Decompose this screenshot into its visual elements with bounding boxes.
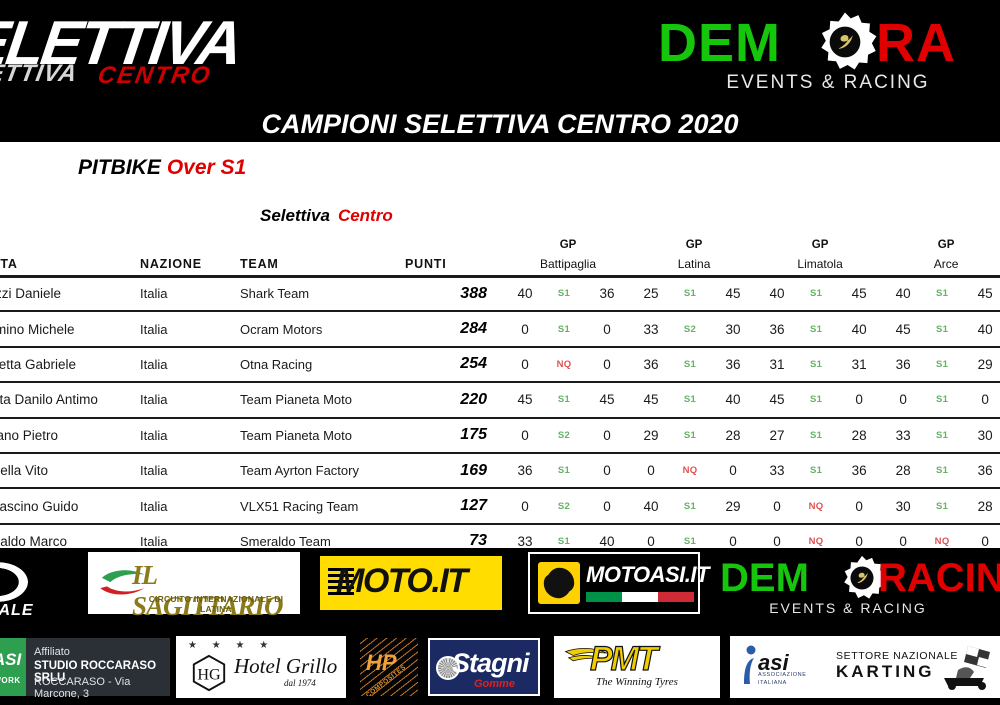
cell-punti: 254 [405, 347, 505, 382]
cell-gp3-race2: 0 [961, 382, 1000, 417]
demora-logo-dem: DEM [658, 12, 781, 74]
cell-team: Ocram Motors [240, 311, 405, 346]
cell-gp3-code: S1 [923, 453, 961, 488]
cell-gp0-code: S1 [545, 311, 583, 346]
standings-poster: SELETTIVA SELETTIVA CENTRO DEM RA EVENTS… [0, 0, 1000, 705]
table-row: Bendascino GuidoItaliaVLX51 Racing Team1… [0, 488, 1000, 523]
cell-gp1-race1: 0 [631, 453, 671, 488]
roccaraso-line3: ROCCARASO - Via Marcone, 3 [34, 676, 170, 700]
cell-gp3-race1: 33 [883, 418, 923, 453]
cell-gp2-code: S1 [797, 418, 835, 453]
cell-team: Team Pianeta Moto [240, 418, 405, 453]
asi-work-logo: ASI [0, 650, 24, 670]
gp-word-1: GP [631, 236, 757, 254]
cell-gp3-race2: 45 [961, 276, 1000, 311]
cell-team: Otna Racing [240, 347, 405, 382]
cell-gp0-race1: 0 [505, 311, 545, 346]
cell-gp1-race1: 45 [631, 382, 671, 417]
cell-gp1-race2: 36 [709, 347, 757, 382]
cell-gp0-race1: 0 [505, 347, 545, 382]
cell-gp2-race1: 33 [757, 453, 797, 488]
sponsor-motoasi-it[interactable]: MOTOASI.IT [528, 552, 700, 614]
cell-gp3-race1: 40 [883, 276, 923, 311]
pmt-name: PMT [590, 640, 656, 679]
cell-pilota: Romano Pietro [0, 418, 140, 453]
gp-city-1: Latina [631, 254, 757, 276]
sponsor-ohvale[interactable]: OHVALE [0, 560, 76, 618]
cell-gp0-code: S1 [545, 453, 583, 488]
cell-gp0-race1: 0 [505, 418, 545, 453]
cell-gp3-race1: 0 [883, 382, 923, 417]
cell-punti: 175 [405, 418, 505, 453]
column-header-row: PILOTA NAZIONE TEAM PUNTI Battipaglia La… [0, 254, 1000, 276]
asi-work-word: WORK [0, 676, 26, 685]
cell-gp2-race2: 31 [835, 347, 883, 382]
cell-gp2-race2: 0 [835, 382, 883, 417]
cell-gp0-race2: 0 [583, 311, 631, 346]
cell-gp2-race2: 28 [835, 418, 883, 453]
selettiva-logo-centro: CENTRO [96, 62, 214, 90]
category-main: PITBIKE [78, 156, 161, 179]
moto-it-label: MOTO.IT [336, 562, 502, 601]
cell-gp0-race2: 0 [583, 488, 631, 523]
gp-word-row: GP GP GP GP [0, 236, 1000, 254]
cell-gp1-race1: 36 [631, 347, 671, 382]
cell-gp1-race2: 0 [709, 453, 757, 488]
header-nazione: NAZIONE [140, 254, 240, 276]
cell-pilota: Paneta Danilo Antimo [0, 382, 140, 417]
table-row: Peluzzi DanieleItaliaShark Team38840S136… [0, 276, 1000, 311]
gear-icon [813, 10, 877, 74]
cell-nazione: Italia [140, 382, 240, 417]
cell-gp2-code: S1 [797, 453, 835, 488]
cell-gp3-race1: 28 [883, 453, 923, 488]
top-banner: SELETTIVA SELETTIVA CENTRO DEM RA EVENTS… [0, 0, 1000, 106]
cell-gp1-race2: 45 [709, 276, 757, 311]
series-heading: SelettivaCentro [260, 206, 393, 226]
cell-gp3-race2: 30 [961, 418, 1000, 453]
cell-gp2-race1: 45 [757, 382, 797, 417]
cell-gp0-code: S1 [545, 382, 583, 417]
cell-nazione: Italia [140, 311, 240, 346]
cell-gp1-code: S1 [671, 276, 709, 311]
gp-word-3: GP [883, 236, 1000, 254]
category-accent: Over S1 [167, 156, 246, 179]
cell-nazione: Italia [140, 453, 240, 488]
demora-tagline: EVENTS & RACING [648, 72, 1000, 94]
cell-pilota: Peluzzi Daniele [0, 276, 140, 311]
cell-gp0-race1: 40 [505, 276, 545, 311]
series-accent: Centro [338, 206, 393, 225]
gp-word-2: GP [757, 236, 883, 254]
sponsor-demoracing[interactable]: DEM RACING EVENTS & RACING [716, 554, 1000, 624]
demoracing-dem: DEM [720, 556, 809, 601]
hotel-grillo-since: dal 1974 [284, 678, 316, 688]
header-pilota: PILOTA [0, 254, 140, 276]
cell-gp0-code: NQ [545, 347, 583, 382]
sponsor-asi-karting[interactable]: asi ASSOCIAZIONE ITALIANA SETTORE NAZION… [730, 636, 1000, 698]
cell-gp2-race1: 36 [757, 311, 797, 346]
table-row: Romano PietroItaliaTeam Pianeta Moto1750… [0, 418, 1000, 453]
cell-gp2-race1: 40 [757, 276, 797, 311]
cell-gp1-code: S1 [671, 347, 709, 382]
motoasi-label: MOTOASI.IT [586, 562, 709, 588]
cell-gp3-race2: 28 [961, 488, 1000, 523]
cell-gp0-race2: 0 [583, 453, 631, 488]
selettiva-logo-sub: SELETTIVA [0, 60, 80, 88]
cell-gp1-code: S1 [671, 382, 709, 417]
pmt-slogan: The Winning Tyres [554, 676, 720, 688]
roccaraso-line1: Affiliato [34, 646, 70, 658]
cell-gp3-code: S1 [923, 311, 961, 346]
cell-gp2-code: S1 [797, 276, 835, 311]
cell-gp2-code: S1 [797, 382, 835, 417]
karting-line2: KARTING [836, 662, 934, 682]
table-head: GP GP GP GP PILOTA NAZIONE TEAM PUNTI Ba… [0, 236, 1000, 276]
series-main: Selettiva [260, 206, 330, 225]
cell-gp2-race1: 31 [757, 347, 797, 382]
cell-gp2-race2: 0 [835, 488, 883, 523]
hotel-grillo-name: Hotel Grillo [234, 654, 337, 679]
cell-punti: 220 [405, 382, 505, 417]
cell-gp1-race2: 30 [709, 311, 757, 346]
page-title: CAMPIONI SELETTIVA CENTRO 2020 [261, 109, 738, 140]
cell-punti: 388 [405, 276, 505, 311]
poster-title-bar: CAMPIONI SELETTIVA CENTRO 2020 [0, 106, 1000, 142]
table-row: Zappetta GabrieleItaliaOtna Racing2540NQ… [0, 347, 1000, 382]
table-row: Mazzella VitoItaliaTeam Ayrton Factory16… [0, 453, 1000, 488]
hotel-grillo-hexagon-icon: HG [190, 654, 228, 692]
gp-city-2: Limatola [757, 254, 883, 276]
cell-pilota: Zappetta Gabriele [0, 347, 140, 382]
stagni-name: Stagni [452, 648, 529, 679]
cell-gp2-race2: 45 [835, 276, 883, 311]
cell-gp0-race2: 36 [583, 276, 631, 311]
asi-figure-icon [740, 644, 760, 688]
cell-gp1-race1: 29 [631, 418, 671, 453]
hotel-stars-icon: ★ ★ ★ ★ [188, 640, 274, 651]
cell-nazione: Italia [140, 418, 240, 453]
header-punti: PUNTI [405, 254, 505, 276]
cell-gp2-code: S1 [797, 311, 835, 346]
table-row: Palomino MicheleItaliaOcram Motors2840S1… [0, 311, 1000, 346]
cell-gp0-race2: 0 [583, 347, 631, 382]
category-heading: PITBIKEOver S1 [78, 156, 246, 180]
table-body: Peluzzi DanieleItaliaShark Team38840S136… [0, 276, 1000, 559]
cell-gp1-race2: 40 [709, 382, 757, 417]
sponsor-studio-roccaraso[interactable]: ASI WORK Affiliato STUDIO ROCCARASO SRLU… [0, 638, 170, 696]
cell-gp0-code: S2 [545, 418, 583, 453]
cell-gp2-race1: 0 [757, 488, 797, 523]
cell-gp3-race2: 40 [961, 311, 1000, 346]
cell-pilota: Mazzella Vito [0, 453, 140, 488]
demoracing-racing: RACING [878, 556, 1000, 601]
cell-gp3-race2: 29 [961, 347, 1000, 382]
demoracing-tagline: EVENTS & RACING [716, 600, 980, 616]
stagni-subtitle: Gomme [474, 678, 515, 690]
cell-gp3-code: S1 [923, 276, 961, 311]
svg-text:HG: HG [197, 667, 221, 684]
italian-flag-icon [586, 592, 694, 602]
cell-team: Team Pianeta Moto [240, 382, 405, 417]
cell-gp2-race1: 27 [757, 418, 797, 453]
sponsor-hotel-grillo[interactable]: ★ ★ ★ ★ HG Hotel Grillo dal 1974 [176, 636, 346, 698]
cell-punti: 284 [405, 311, 505, 346]
table-row: Paneta Danilo AntimoItaliaTeam Pianeta M… [0, 382, 1000, 417]
motoasi-swirl-icon [540, 564, 578, 602]
sponsor-bar-primary: OHVALE IL SAGITTARIO CIRCUITO INTERNAZIO… [0, 548, 1000, 630]
cell-gp3-race1: 45 [883, 311, 923, 346]
standings-table: GP GP GP GP PILOTA NAZIONE TEAM PUNTI Ba… [0, 236, 1000, 560]
ohvale-label: OHVALE [0, 602, 33, 620]
demora-logo: DEM RA EVENTS & RACING [648, 8, 1000, 104]
cell-gp1-race1: 33 [631, 311, 671, 346]
cell-gp3-code: S1 [923, 347, 961, 382]
cell-gp1-race2: 29 [709, 488, 757, 523]
cell-gp1-race2: 28 [709, 418, 757, 453]
cell-team: Shark Team [240, 276, 405, 311]
cell-team: Team Ayrton Factory [240, 453, 405, 488]
gp-city-3: Arce [883, 254, 1000, 276]
cell-gp3-race1: 30 [883, 488, 923, 523]
asi-assoc-line1: ASSOCIAZIONE [758, 672, 806, 678]
cell-gp2-code: S1 [797, 347, 835, 382]
cell-gp3-code: S1 [923, 382, 961, 417]
cell-gp0-race1: 36 [505, 453, 545, 488]
standings-sheet: PITBIKEOver S1 SelettivaCentro GP GP GP … [0, 142, 1000, 548]
cell-gp3-race2: 36 [961, 453, 1000, 488]
cell-gp1-race1: 25 [631, 276, 671, 311]
ohvale-ring-icon [0, 562, 28, 602]
asi-assoc-line2: ITALIANA [758, 680, 787, 686]
cell-gp2-race2: 40 [835, 311, 883, 346]
cell-gp0-race1: 0 [505, 488, 545, 523]
gp-city-0: Battipaglia [505, 254, 631, 276]
sagittario-subtitle: CIRCUITO INTERNAZIONALE DI LATINA [134, 594, 298, 614]
sponsor-hp-composites[interactable]: HP COMPOSITES [360, 638, 418, 696]
cell-punti: 169 [405, 453, 505, 488]
selettiva-centro-logo: SELETTIVA SELETTIVA CENTRO [0, 4, 330, 94]
cell-pilota: Bendascino Guido [0, 488, 140, 523]
cell-gp3-code: S1 [923, 488, 961, 523]
cell-nazione: Italia [140, 347, 240, 382]
cell-gp2-race2: 36 [835, 453, 883, 488]
cell-nazione: Italia [140, 488, 240, 523]
cell-gp2-code: NQ [797, 488, 835, 523]
sponsor-stagni-gomme[interactable]: Stagni Gomme [428, 638, 540, 696]
cell-gp3-code: S1 [923, 418, 961, 453]
cell-gp3-race1: 36 [883, 347, 923, 382]
cell-gp0-race1: 45 [505, 382, 545, 417]
cell-gp1-code: S2 [671, 311, 709, 346]
gp-word-0: GP [505, 236, 631, 254]
cell-gp0-code: S1 [545, 276, 583, 311]
sponsor-il-sagittario[interactable]: IL SAGITTARIO CIRCUITO INTERNAZIONALE DI… [88, 552, 300, 614]
cell-team: VLX51 Racing Team [240, 488, 405, 523]
cell-pilota: Palomino Michele [0, 311, 140, 346]
cell-gp1-race1: 40 [631, 488, 671, 523]
cell-gp1-code: S1 [671, 418, 709, 453]
cell-gp0-race2: 45 [583, 382, 631, 417]
cell-gp1-code: NQ [671, 453, 709, 488]
sponsor-moto-it[interactable]: MOTO.IT [320, 556, 502, 610]
cell-gp0-race2: 0 [583, 418, 631, 453]
cell-gp1-code: S1 [671, 488, 709, 523]
sponsor-bar-secondary: ASI WORK Affiliato STUDIO ROCCARASO SRLU… [0, 630, 1000, 705]
cell-gp0-code: S2 [545, 488, 583, 523]
checkered-flag-kart-icon [938, 642, 996, 690]
sponsor-pmt[interactable]: PMT The Winning Tyres [554, 636, 720, 698]
cell-nazione: Italia [140, 276, 240, 311]
cell-punti: 127 [405, 488, 505, 523]
header-team: TEAM [240, 254, 405, 276]
demora-logo-ra: RA [876, 12, 956, 74]
